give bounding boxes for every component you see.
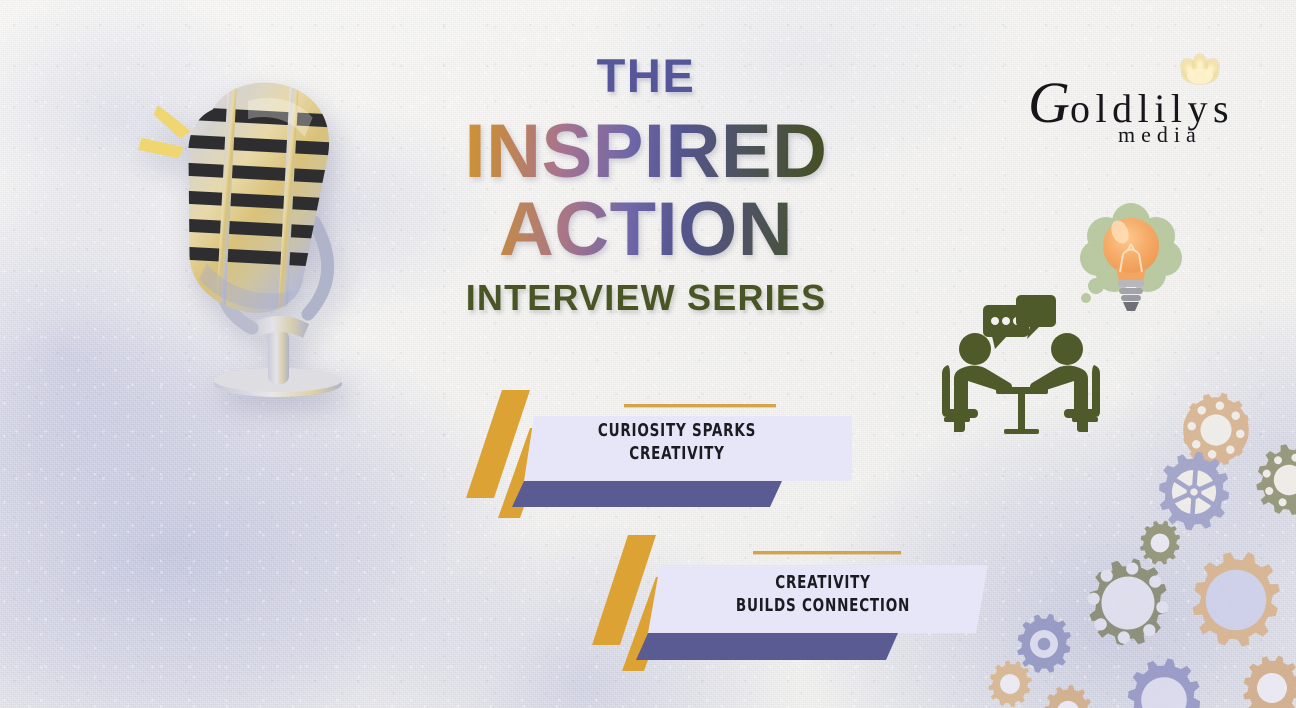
mic-motion-lines bbox=[138, 103, 192, 160]
gold-rule bbox=[624, 404, 776, 407]
banner-accent-bar bbox=[636, 633, 898, 660]
title-line-the: THE bbox=[436, 52, 856, 99]
quote-banner-2: CREATIVITY BUILDS CONNECTION bbox=[578, 533, 988, 673]
title-line-series: INTERVIEW SERIES bbox=[436, 280, 856, 316]
title-line-action: ACTION bbox=[436, 193, 856, 267]
gears-icon bbox=[972, 388, 1296, 708]
title-block: THE INSPIRED ACTION INTERVIEW SERIES bbox=[436, 52, 856, 316]
interview-people-icon bbox=[938, 283, 1104, 435]
gold-rule bbox=[753, 551, 901, 554]
banner-accent-bar bbox=[512, 481, 782, 507]
brand-logo[interactable]: G oldlilys media bbox=[1026, 44, 1270, 144]
table-leg bbox=[1018, 393, 1025, 432]
person-right-head bbox=[1051, 333, 1083, 365]
person-left-head bbox=[959, 333, 991, 365]
title-line-inspired: INSPIRED bbox=[436, 115, 856, 189]
logo-subtitle: media bbox=[1118, 122, 1202, 144]
retro-microphone-icon bbox=[118, 62, 368, 407]
quote-banner-1: CURIOSITY SPARKS CREATIVITY bbox=[452, 388, 852, 520]
logo-script-g: G bbox=[1028, 70, 1070, 135]
banner-2-text: CREATIVITY BUILDS CONNECTION bbox=[694, 572, 952, 618]
lily-flower-icon bbox=[1176, 53, 1224, 86]
slide-canvas: THE INSPIRED ACTION INTERVIEW SERIES bbox=[0, 0, 1296, 708]
banner-1-text: CURIOSITY SPARKS CREATIVITY bbox=[570, 420, 785, 466]
table-top bbox=[996, 387, 1048, 394]
